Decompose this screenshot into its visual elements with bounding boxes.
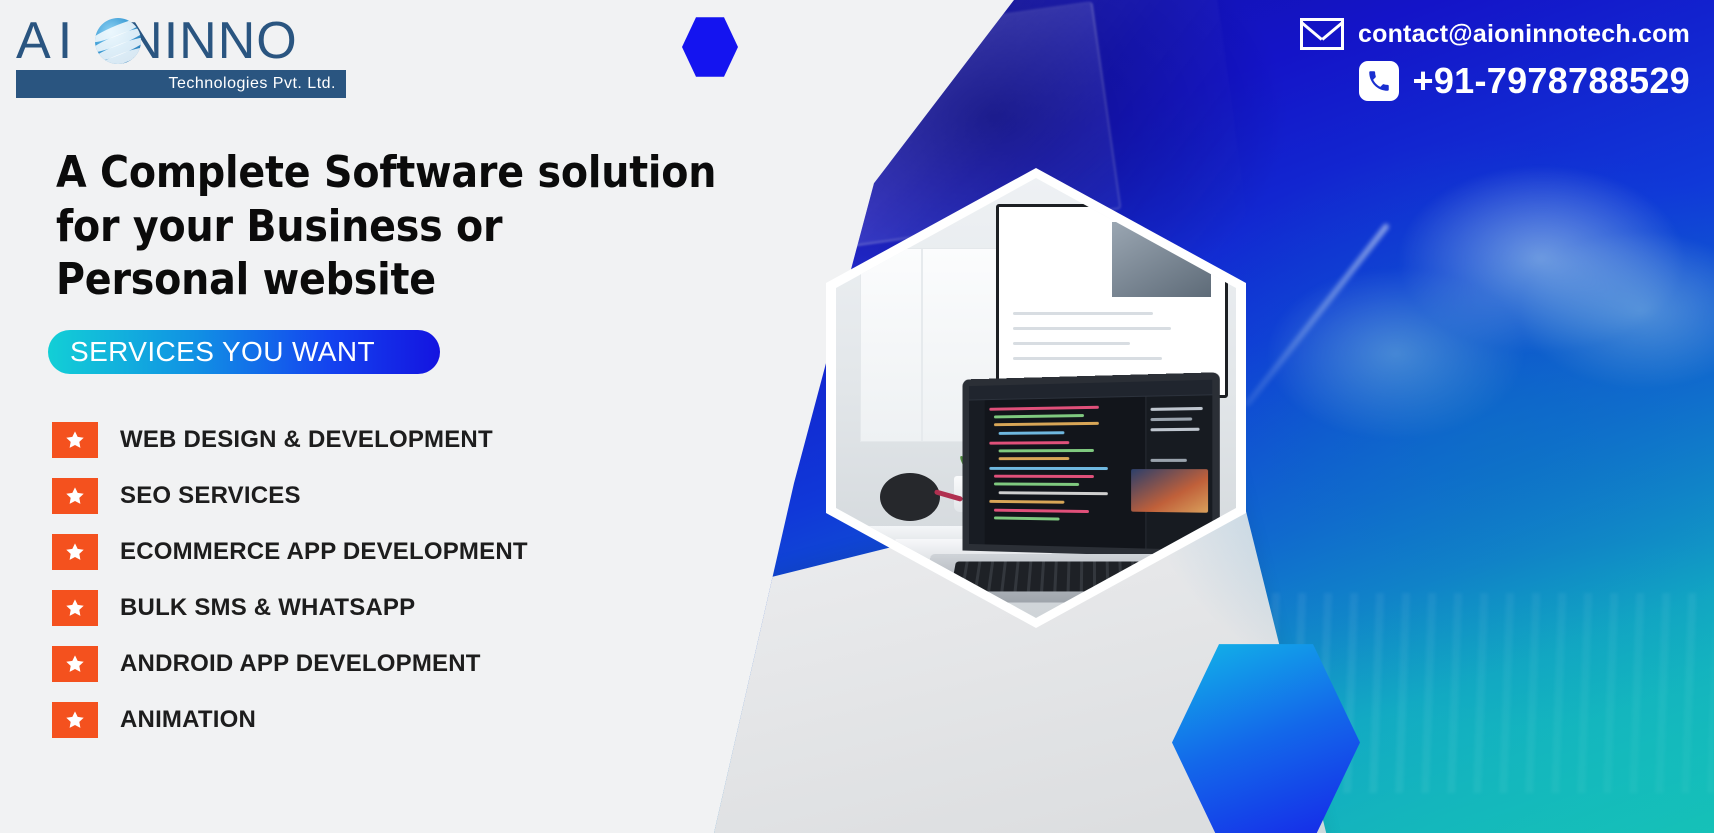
desktop-wallpaper xyxy=(1131,469,1208,513)
logo-tagline: Technologies Pvt. Ltd. xyxy=(168,75,336,93)
phone-number[interactable]: +91-7978788529 xyxy=(1413,60,1690,102)
list-item-label: ECOMMERCE APP DEVELOPMENT xyxy=(120,538,528,566)
star-icon xyxy=(52,478,98,514)
list-item[interactable]: BULK SMS & WHATSAPP xyxy=(52,580,672,636)
star-icon xyxy=(52,590,98,626)
pen-icon xyxy=(1244,223,1390,408)
list-item[interactable]: ANIMATION xyxy=(52,692,672,748)
list-item[interactable]: SEO SERVICES xyxy=(52,468,672,524)
list-item[interactable]: WEB DESIGN & DEVELOPMENT xyxy=(52,412,672,468)
headline-line-1: A Complete Software solution xyxy=(56,147,716,198)
star-icon xyxy=(52,702,98,738)
services-badge-label: SERVICES YOU WANT xyxy=(70,336,375,368)
logo-text-after-globe: NINNO xyxy=(125,15,298,67)
list-item[interactable]: ECOMMERCE APP DEVELOPMENT xyxy=(52,524,672,580)
phone-row[interactable]: +91-7978788529 xyxy=(1300,60,1690,102)
list-item-label: SEO SERVICES xyxy=(120,482,301,510)
star-icon xyxy=(52,422,98,458)
contact-block: contact@aioninnotech.com +91-7978788529 xyxy=(1300,18,1690,102)
phone-icon xyxy=(1359,61,1399,101)
services-badge: SERVICES YOU WANT xyxy=(48,330,440,374)
promo-banner: A I NINNO Technologies Pvt. Ltd. contact… xyxy=(0,0,1714,833)
code-editor xyxy=(969,380,1213,551)
headline-line-2: for your Business or xyxy=(56,200,816,254)
envelope-icon xyxy=(1300,18,1344,50)
list-item-label: ANDROID APP DEVELOPMENT xyxy=(120,650,481,678)
list-item[interactable]: ANDROID APP DEVELOPMENT xyxy=(52,636,672,692)
list-item-label: ANIMATION xyxy=(120,706,256,734)
logo-tagline-bar: Technologies Pvt. Ltd. xyxy=(16,70,346,98)
star-icon xyxy=(52,646,98,682)
handwriting-photo xyxy=(1194,130,1714,560)
email-row[interactable]: contact@aioninnotech.com xyxy=(1300,18,1690,50)
laptop-screen xyxy=(963,372,1221,558)
star-icon xyxy=(52,534,98,570)
globe-icon xyxy=(95,18,141,64)
logo-wordmark: A I NINNO xyxy=(16,12,298,70)
list-item-label: WEB DESIGN & DEVELOPMENT xyxy=(120,426,493,454)
email-address[interactable]: contact@aioninnotech.com xyxy=(1358,20,1690,49)
logo-text-before-globe: A xyxy=(16,15,52,67)
headline-line-3: Personal website xyxy=(56,253,816,307)
hexagon-accent-top xyxy=(682,16,738,78)
company-logo[interactable]: A I NINNO Technologies Pvt. Ltd. xyxy=(10,12,352,100)
headphones xyxy=(880,473,940,521)
services-list: WEB DESIGN & DEVELOPMENT SEO SERVICES EC… xyxy=(52,412,672,748)
list-item-label: BULK SMS & WHATSAPP xyxy=(120,594,415,622)
page-title: A Complete Software solution for your Bu… xyxy=(56,146,816,307)
